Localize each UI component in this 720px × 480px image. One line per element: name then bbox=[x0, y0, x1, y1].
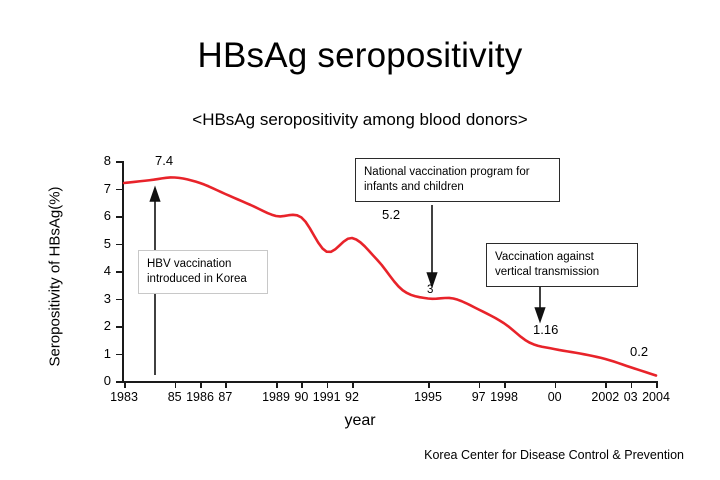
callout-hbv-intro-line1: HBV vaccination bbox=[147, 257, 259, 272]
callout-national-program-line1: National vaccination program for bbox=[364, 165, 551, 180]
arrow-vertical-transmission bbox=[536, 282, 545, 321]
callout-vertical-transmission-line2: vertical transmission bbox=[495, 265, 629, 280]
arrow-national-program bbox=[428, 205, 437, 286]
data-label-5-2: 5.2 bbox=[382, 207, 400, 222]
callout-national-program-line2: infants and children bbox=[364, 180, 551, 195]
slide-canvas: HBsAg seropositivity <HBsAg seropositivi… bbox=[0, 0, 720, 480]
footer-credit: Korea Center for Disease Control & Preve… bbox=[424, 448, 684, 462]
callout-vertical-transmission: Vaccination against vertical transmissio… bbox=[486, 243, 638, 287]
callout-hbv-intro-line2: introduced in Korea bbox=[147, 272, 259, 287]
data-label-3: 3 bbox=[427, 284, 433, 296]
callout-hbv-intro: HBV vaccination introduced in Korea bbox=[138, 250, 268, 294]
data-label-7-4: 7.4 bbox=[155, 153, 173, 168]
data-label-0-2: 0.2 bbox=[630, 344, 648, 359]
x-axis-title: year bbox=[0, 412, 720, 430]
data-label-1-16: 1.16 bbox=[533, 322, 558, 337]
page-title: HBsAg seropositivity bbox=[0, 36, 720, 76]
callout-vertical-transmission-line1: Vaccination against bbox=[495, 250, 629, 265]
line-chart: Seropositivity of HBsAg(%) 012345678 198… bbox=[0, 150, 720, 420]
callout-national-program: National vaccination program for infants… bbox=[355, 158, 560, 202]
chart-subtitle: <HBsAg seropositivity among blood donors… bbox=[0, 110, 720, 130]
